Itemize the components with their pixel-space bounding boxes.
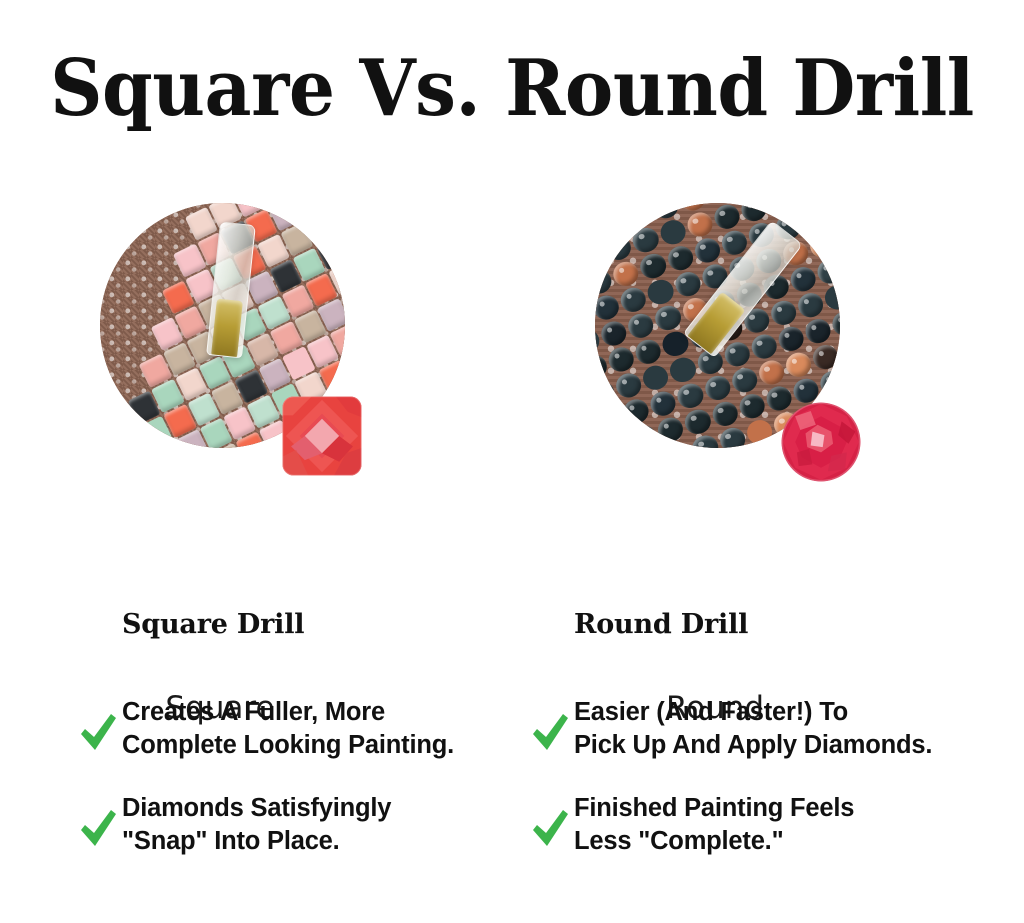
square-panel: Square [55,203,385,543]
infographic-page: Square Vs. Round Drill [0,0,1024,923]
check-icon [530,710,570,754]
check-icon [78,806,118,850]
list-item-line1: Easier (And Faster!) To [574,696,950,729]
list-item-text: Easier (And Faster!) To Pick Up And Appl… [574,696,950,762]
check-icon [78,710,118,754]
list-item: Diamonds Satisfyingly "Snap" Into Place. [78,792,498,866]
square-gem [279,393,365,479]
round-gem [778,399,864,485]
list-item-text: Finished Painting Feels Less "Complete." [574,792,950,858]
round-drill-heading: Round Drill [574,608,950,642]
round-panel: Round [550,203,880,543]
check-icon [530,806,570,850]
square-drill-heading: Square Drill [122,608,498,642]
list-item-line2: Complete Looking Painting. [122,729,498,762]
list-item-text: Creates A Fuller, More Complete Looking … [122,696,498,762]
list-item-line2: Less "Complete." [574,825,950,858]
list-item: Finished Painting Feels Less "Complete." [530,792,950,866]
list-item: Creates A Fuller, More Complete Looking … [78,696,498,770]
square-drill-column: Square Drill Creates A Fuller, More Comp… [78,608,498,888]
list-item-line1: Creates A Fuller, More [122,696,498,729]
page-title: Square Vs. Round Drill [36,44,988,134]
list-item-line1: Diamonds Satisfyingly [122,792,498,825]
round-drill-column: Round Drill Easier (And Faster!) To Pick… [530,608,950,888]
list-item-line2: "Snap" Into Place. [122,825,498,858]
list-item-line1: Finished Painting Feels [574,792,950,825]
list-item-line2: Pick Up And Apply Diamonds. [574,729,950,762]
list-item: Easier (And Faster!) To Pick Up And Appl… [530,696,950,770]
list-item-text: Diamonds Satisfyingly "Snap" Into Place. [122,792,498,858]
